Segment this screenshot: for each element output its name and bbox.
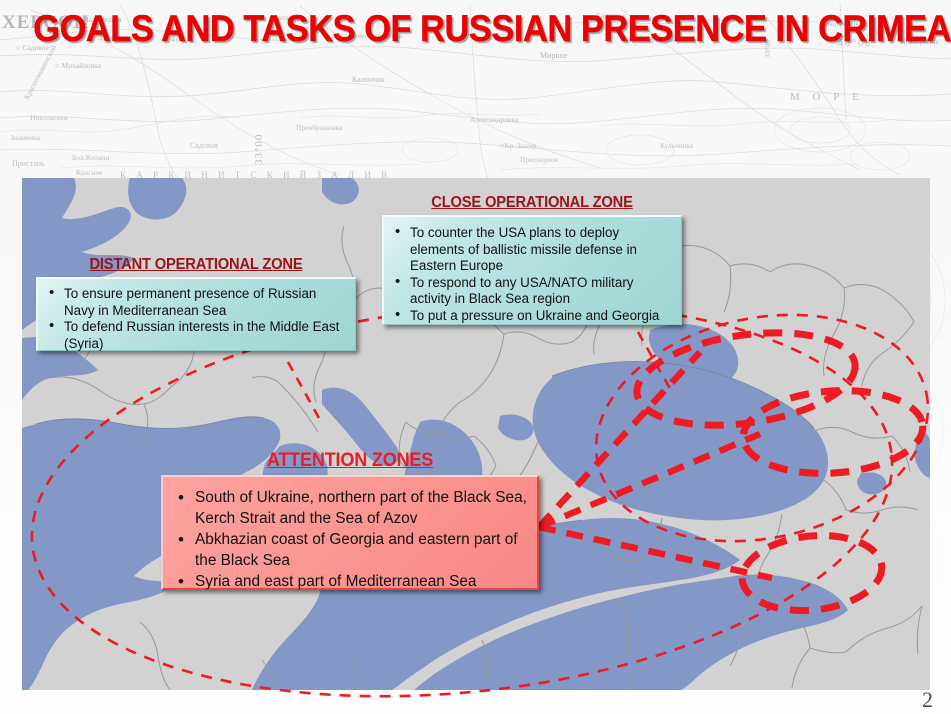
attention-zones-box: South of Ukraine, northern part of the B… [161, 475, 539, 590]
attention-zones-heading: ATTENTION ZONES [170, 450, 529, 472]
list-item: Syria and east part of Mediterranean Sea [171, 571, 527, 592]
close-zone-box: To counter the USA plans to deploy eleme… [382, 215, 682, 325]
page-number: 2 [922, 687, 933, 713]
list-item: To defend Russian interests in the Middl… [44, 319, 347, 352]
list-item: To respond to any USA/NATO military acti… [390, 275, 675, 308]
list-item: To counter the USA plans to deploy eleme… [390, 225, 675, 275]
page-title: GOALS AND TASKS OF RUSSIAN PRESENCE IN C… [33, 8, 917, 50]
distant-zone-heading: DISTANT OPERATIONAL ZONE [44, 256, 348, 274]
distant-zone-box: To ensure permanent presence of Russian … [36, 277, 356, 351]
list-item: Abkhazian coast of Georgia and eastern p… [171, 529, 527, 571]
list-item: South of Ukraine, northern part of the B… [171, 487, 527, 529]
close-zone-heading: CLOSE OPERATIONAL ZONE [390, 194, 675, 212]
list-item: To put a pressure on Ukraine and Georgia [390, 308, 675, 325]
slide-canvas: ХЕРСОН Мал.Копани ○ Виноградовка ○ Садов… [0, 0, 951, 714]
list-item: To ensure permanent presence of Russian … [44, 286, 347, 319]
